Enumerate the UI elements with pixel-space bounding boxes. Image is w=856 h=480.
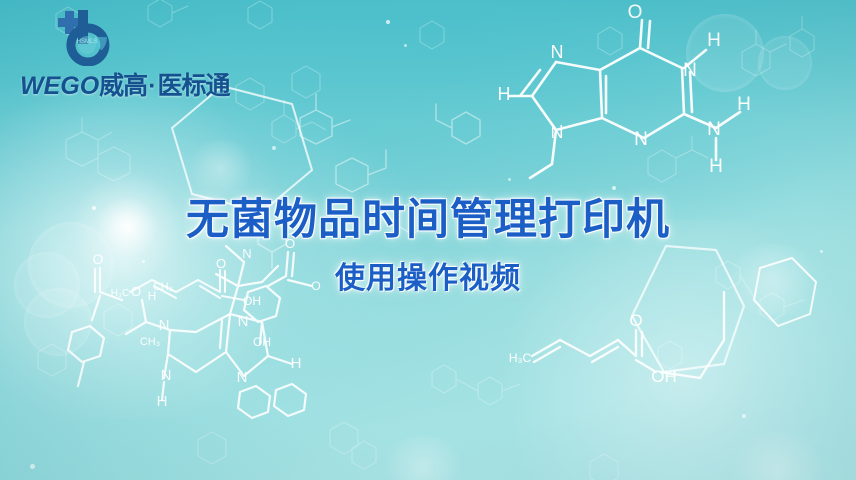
sub-title: 使用操作视频 — [0, 253, 856, 297]
main-title: 无菌物品时间管理打印机 — [0, 196, 856, 244]
logo-mark-inner-text: HSMLS — [77, 39, 98, 45]
brand-wordmark: WEGO威高·医标通 — [20, 66, 230, 102]
brand-wordmark-separator: · — [147, 72, 157, 100]
title-card-stage: O N H N N H H N N H O — [0, 0, 856, 480]
brand-wordmark-cn2: 医标通 — [158, 72, 230, 100]
brand-logo[interactable]: HSMLS WEGO威高·医标通 — [16, 8, 206, 100]
brand-wordmark-latin: WEGO — [20, 72, 99, 100]
title-block: 无菌物品时间管理打印机 使用操作视频 — [0, 196, 856, 297]
wego-ebiaotong-logo-mark: HSMLS — [56, 10, 120, 66]
brand-wordmark-cn: 威高 — [99, 72, 147, 100]
